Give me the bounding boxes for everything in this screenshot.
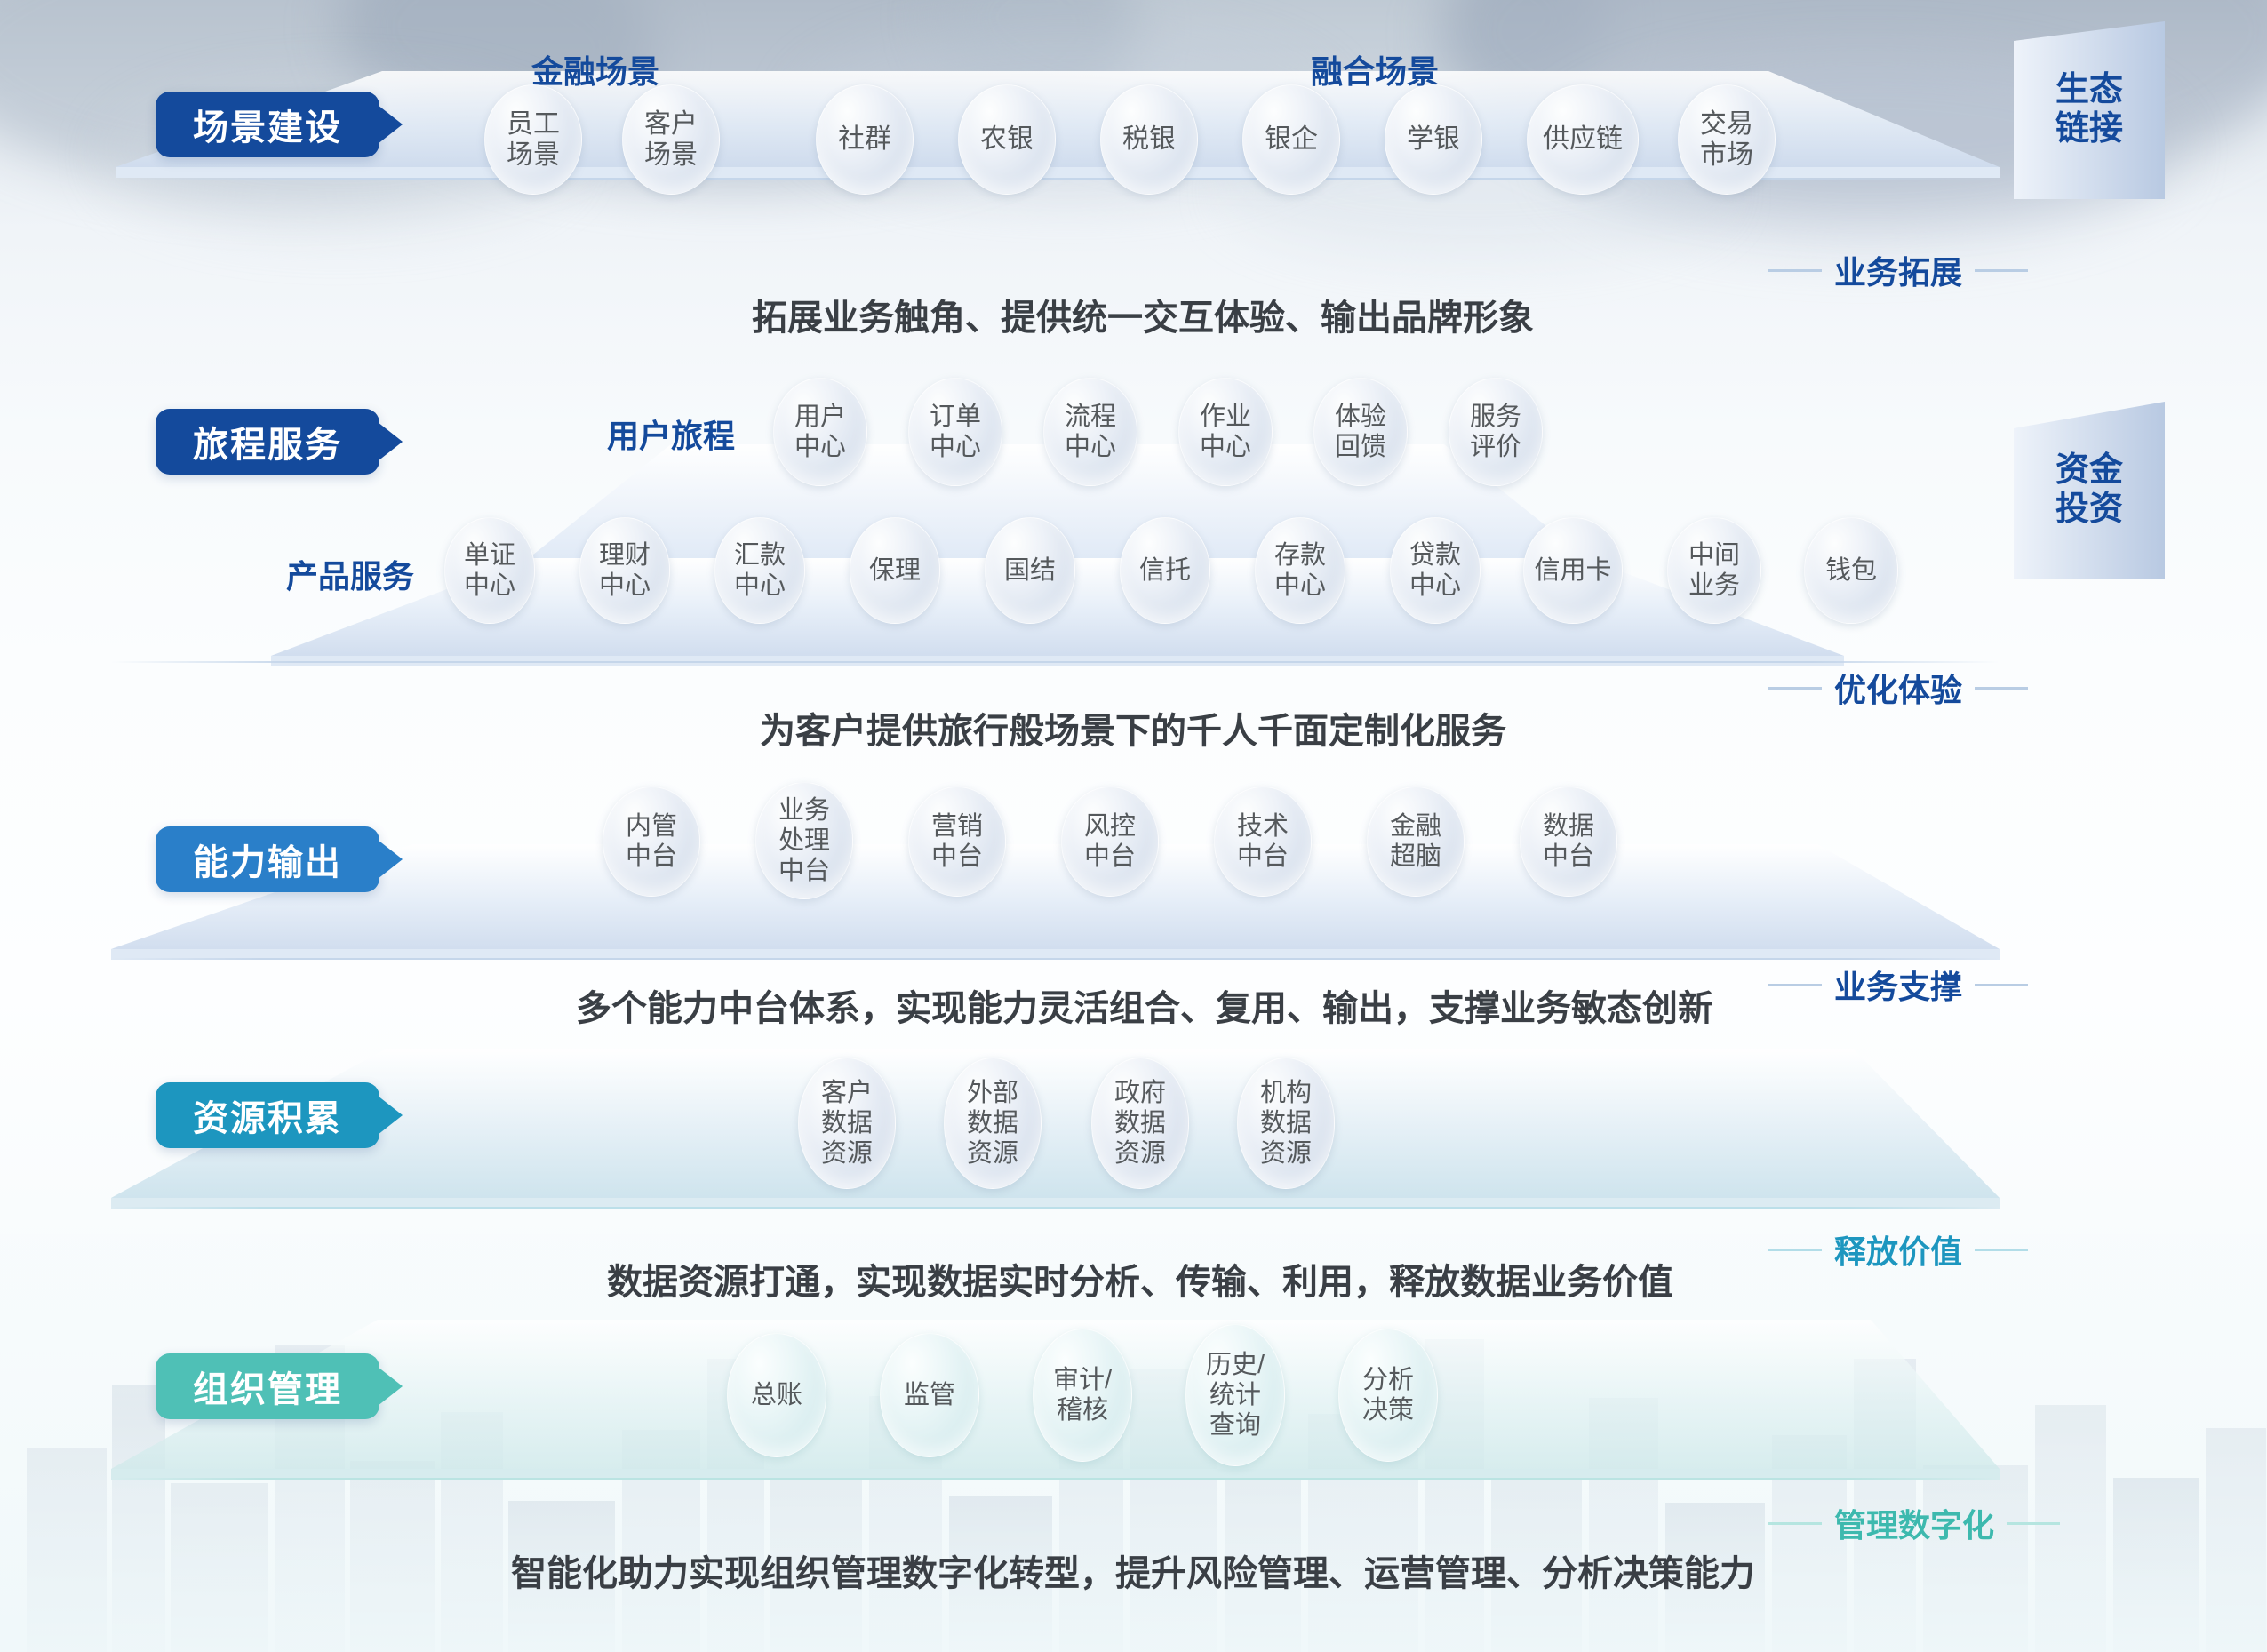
caption-organization: 智能化助力实现组织管理数字化转型，提升风险管理、运营管理、分析决策能力 bbox=[511, 1544, 1755, 1596]
banner-eco-line1: 生态 bbox=[2055, 71, 2123, 110]
divider-line-right bbox=[1975, 984, 2028, 986]
divider-line-left bbox=[1768, 984, 1822, 986]
bubble-product-3[interactable]: 保理 bbox=[850, 517, 940, 624]
banner-eco-line2: 链接 bbox=[2055, 110, 2123, 149]
bubble-scene-0[interactable]: 员工场景 bbox=[484, 84, 582, 195]
banner-fund: 资金 投资 bbox=[2014, 402, 2165, 579]
divider-label-resource-text: 释放价值 bbox=[1834, 1226, 1962, 1273]
banner-fund-line2: 投资 bbox=[2055, 491, 2123, 530]
tier-tag-journey-label: 旅程服务 bbox=[193, 416, 342, 467]
divider-label-organization: 管理数字化 bbox=[1768, 1500, 2060, 1546]
bubble-scene-4[interactable]: 税银 bbox=[1100, 84, 1198, 195]
tier-tag-journey[interactable]: 旅程服务 bbox=[156, 409, 379, 475]
divider-label-organization-text: 管理数字化 bbox=[1834, 1500, 1994, 1546]
bubble-resource-3[interactable]: 机构数据资源 bbox=[1237, 1057, 1335, 1189]
bubble-product-6[interactable]: 存款中心 bbox=[1255, 517, 1345, 624]
bubble-product-9[interactable]: 中间业务 bbox=[1667, 517, 1761, 624]
bubble-scene-2[interactable]: 社群 bbox=[816, 84, 914, 195]
tier-tag-scene-label: 场景建设 bbox=[193, 99, 342, 150]
bubble-organization-3[interactable]: 历史/统计查询 bbox=[1185, 1324, 1285, 1466]
bubble-organization-0[interactable]: 总账 bbox=[727, 1333, 826, 1457]
divider-line-right bbox=[1975, 687, 2028, 690]
bubble-journey-2[interactable]: 流程中心 bbox=[1043, 378, 1137, 486]
bubble-organization-4[interactable]: 分析决策 bbox=[1338, 1329, 1438, 1462]
divider-line-left bbox=[1768, 1249, 1822, 1251]
tier-tag-organization-label: 组织管理 bbox=[193, 1361, 342, 1412]
bubble-product-5[interactable]: 信托 bbox=[1120, 517, 1210, 624]
bubble-journey-4[interactable]: 体验回馈 bbox=[1313, 378, 1408, 486]
tier-tag-capability-label: 能力输出 bbox=[193, 834, 342, 885]
tier-rule-capability bbox=[111, 958, 2000, 960]
tier-tag-capability[interactable]: 能力输出 bbox=[156, 826, 379, 892]
banner-fund-line1: 资金 bbox=[2055, 451, 2123, 491]
tier-rule-resource bbox=[111, 1207, 2000, 1209]
bubble-capability-2[interactable]: 营销中台 bbox=[908, 786, 1006, 897]
bubble-journey-3[interactable]: 作业中心 bbox=[1178, 378, 1273, 486]
bubble-capability-6[interactable]: 数据中台 bbox=[1520, 786, 1617, 897]
tier-tag-resource-label: 资源积累 bbox=[193, 1089, 342, 1141]
divider-line-right bbox=[1975, 1249, 2028, 1251]
divider-line-left bbox=[1768, 1522, 1822, 1525]
bubble-journey-1[interactable]: 订单中心 bbox=[908, 378, 1002, 486]
caption-capability: 多个能力中台体系，实现能力灵活组合、复用、输出，支撑业务敏态创新 bbox=[576, 979, 1713, 1031]
bubble-capability-5[interactable]: 金融超脑 bbox=[1367, 786, 1465, 897]
caption-resource: 数据资源打通，实现数据实时分析、传输、利用，释放数据业务价值 bbox=[607, 1253, 1673, 1305]
bubble-organization-2[interactable]: 审计/稽核 bbox=[1033, 1329, 1132, 1462]
bubble-resource-1[interactable]: 外部数据资源 bbox=[944, 1057, 1042, 1189]
bubble-product-7[interactable]: 贷款中心 bbox=[1390, 517, 1481, 624]
bubble-product-10[interactable]: 钱包 bbox=[1804, 517, 1898, 624]
group-label-fusion-scene: 融合场景 bbox=[1311, 46, 1439, 92]
bubble-capability-3[interactable]: 风控中台 bbox=[1061, 786, 1159, 897]
divider-line-right bbox=[1975, 269, 2028, 272]
tier-tag-scene[interactable]: 场景建设 bbox=[156, 92, 379, 157]
group-label-finance-scene: 金融场景 bbox=[531, 46, 659, 92]
bubble-scene-3[interactable]: 农银 bbox=[958, 84, 1056, 195]
bubble-journey-0[interactable]: 用户中心 bbox=[773, 378, 867, 486]
divider-label-scene-text: 业务拓展 bbox=[1834, 247, 1962, 293]
divider-line-right bbox=[2007, 1522, 2060, 1525]
bubble-journey-5[interactable]: 服务评价 bbox=[1449, 378, 1543, 486]
bubble-product-8[interactable]: 信用卡 bbox=[1523, 517, 1623, 624]
bubble-product-4[interactable]: 国结 bbox=[985, 517, 1075, 624]
bubble-capability-0[interactable]: 内管中台 bbox=[603, 786, 700, 897]
bubble-resource-0[interactable]: 客户数据资源 bbox=[798, 1057, 896, 1189]
tier-tag-organization[interactable]: 组织管理 bbox=[156, 1353, 379, 1419]
divider-line-left bbox=[1768, 269, 1822, 272]
bubble-scene-1[interactable]: 客户场景 bbox=[622, 84, 720, 195]
bubble-resource-2[interactable]: 政府数据资源 bbox=[1091, 1057, 1189, 1189]
bubble-scene-6[interactable]: 学银 bbox=[1385, 84, 1482, 195]
bubble-product-2[interactable]: 汇款中心 bbox=[714, 517, 805, 624]
divider-label-capability: 业务支撑 bbox=[1768, 962, 2028, 1008]
bubble-product-1[interactable]: 理财中心 bbox=[579, 517, 670, 624]
divider-label-journey-text: 优化体验 bbox=[1834, 665, 1962, 711]
tier-rule-organization bbox=[111, 1478, 2000, 1480]
bubble-capability-1[interactable]: 业务处理中台 bbox=[755, 782, 853, 899]
divider-label-journey: 优化体验 bbox=[1768, 665, 2028, 711]
divider-line-left bbox=[1768, 687, 1822, 690]
banner-eco: 生态 链接 bbox=[2014, 21, 2165, 199]
caption-scene: 拓展业务触角、提供统一交互体验、输出品牌形象 bbox=[752, 289, 1534, 340]
tier-tag-resource[interactable]: 资源积累 bbox=[156, 1082, 379, 1148]
bubble-scene-8[interactable]: 交易市场 bbox=[1678, 84, 1776, 195]
bubble-scene-5[interactable]: 银企 bbox=[1242, 84, 1340, 195]
group-label-user-journey: 用户旅程 bbox=[607, 411, 735, 457]
bubble-scene-7[interactable]: 供应链 bbox=[1527, 84, 1639, 195]
bubble-capability-4[interactable]: 技术中台 bbox=[1214, 786, 1312, 897]
divider-label-resource: 释放价值 bbox=[1768, 1226, 2028, 1273]
bubble-product-0[interactable]: 单证中心 bbox=[444, 517, 535, 624]
caption-journey: 为客户提供旅行般场景下的千人千面定制化服务 bbox=[760, 702, 1506, 754]
group-label-product-service: 产品服务 bbox=[286, 551, 414, 597]
divider-label-capability-text: 业务支撑 bbox=[1834, 962, 1962, 1008]
bubble-organization-1[interactable]: 监管 bbox=[880, 1333, 979, 1457]
divider-label-scene: 业务拓展 bbox=[1768, 247, 2028, 293]
tier-rule-journey bbox=[111, 661, 2000, 663]
